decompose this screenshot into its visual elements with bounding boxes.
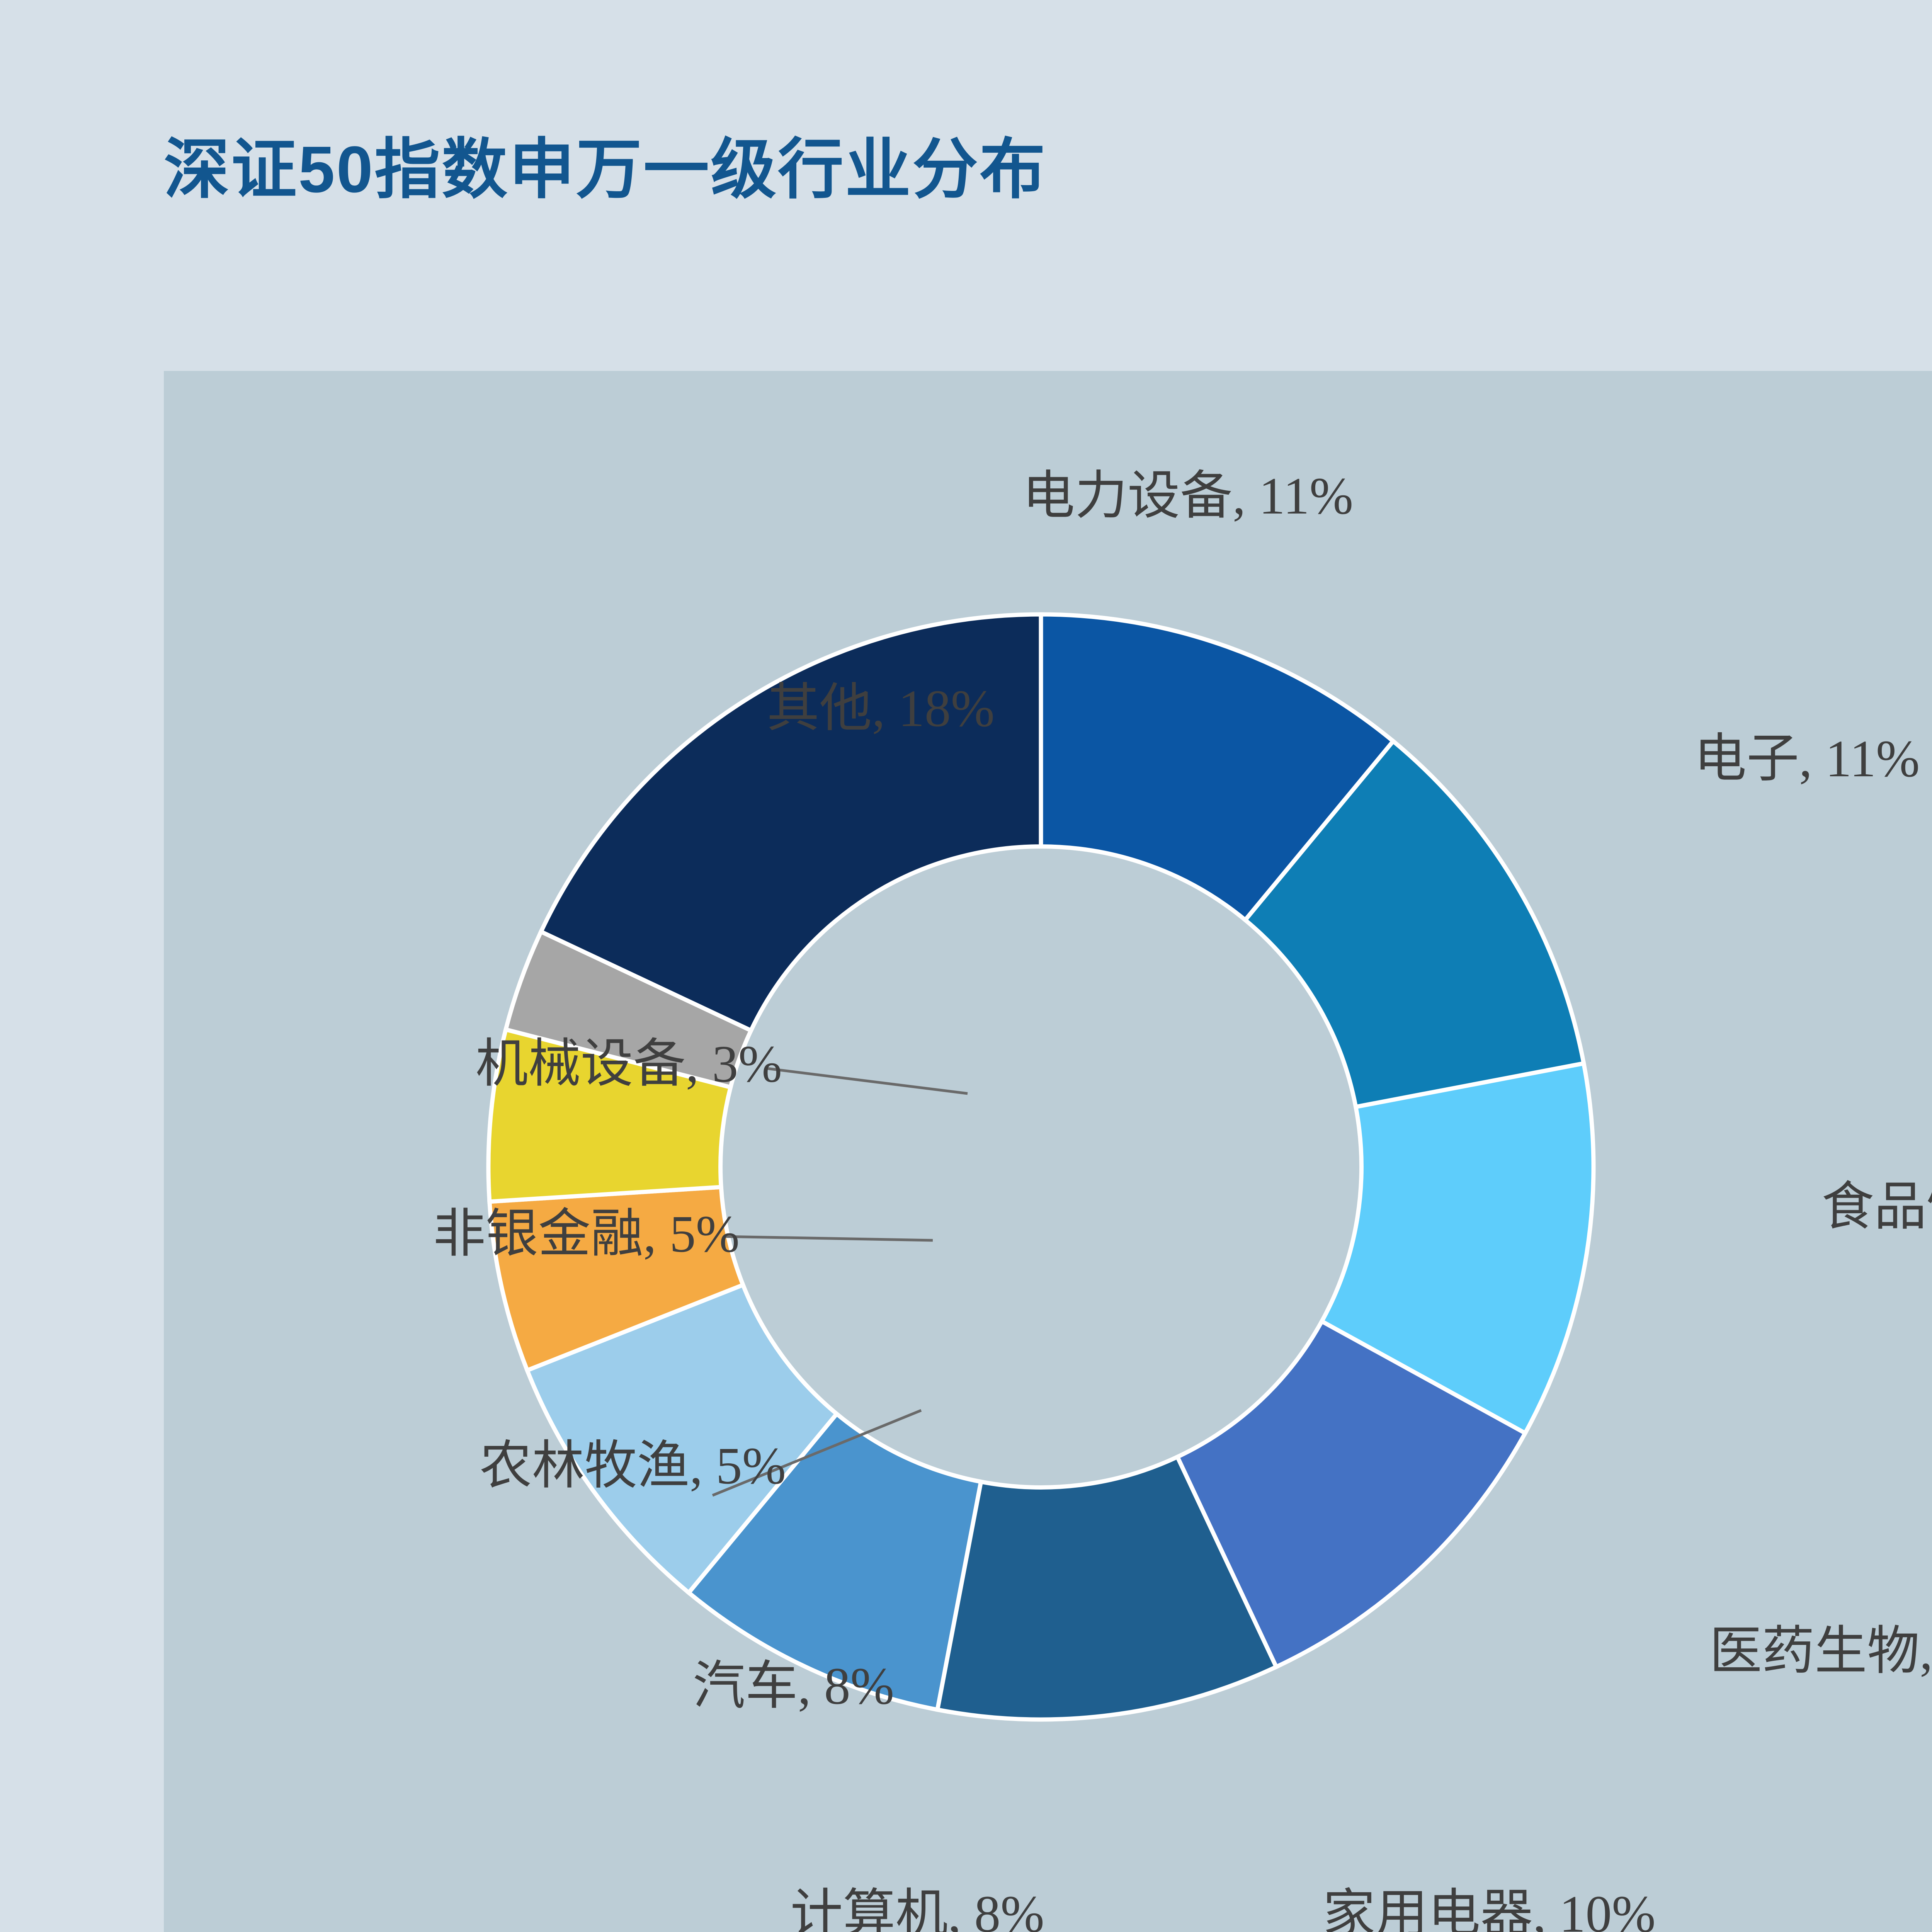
slice-label-feiyinjinrong: 非银金融, 5% <box>164 1206 740 1264</box>
leader-line <box>767 1068 968 1094</box>
donut-chart: 电力设备, 11% 电子, 11% 食品饮料, 11% 医药生物, 10% 家用… <box>164 371 1932 1932</box>
page-title: 深证50指数申万一级行业分布 <box>164 116 1047 211</box>
slice-label-yiyaoshengwu: 医药生物, 10% <box>1709 1623 1932 1681</box>
donut-slice[interactable] <box>541 614 1041 1031</box>
slice-label-shipinyinliao: 食品饮料, 11% <box>1821 1179 1932 1236</box>
slice-label-qiche: 汽车, 8% <box>164 1658 894 1716</box>
slice-label-dianzi: 电子, 11% <box>1694 730 1920 788</box>
slice-label-jiayongdianqi: 家用电器, 10% <box>1141 1886 1837 1932</box>
chart-panel: 电力设备, 11% 电子, 11% 食品饮料, 11% 医药生物, 10% 家用… <box>164 371 1932 1932</box>
slice-label-qita: 其他, 18% <box>164 680 995 738</box>
leader-line <box>724 1236 933 1240</box>
slice-label-jixieshebei: 机械设备, 3% <box>164 1036 782 1094</box>
slice-label-dianlishebei: 电力设备, 11% <box>821 468 1555 526</box>
slice-label-jisuanji: 计算机, 8% <box>608 1886 1226 1932</box>
slice-label-nonglinmuyu: 农林牧渔, 5% <box>164 1437 786 1495</box>
